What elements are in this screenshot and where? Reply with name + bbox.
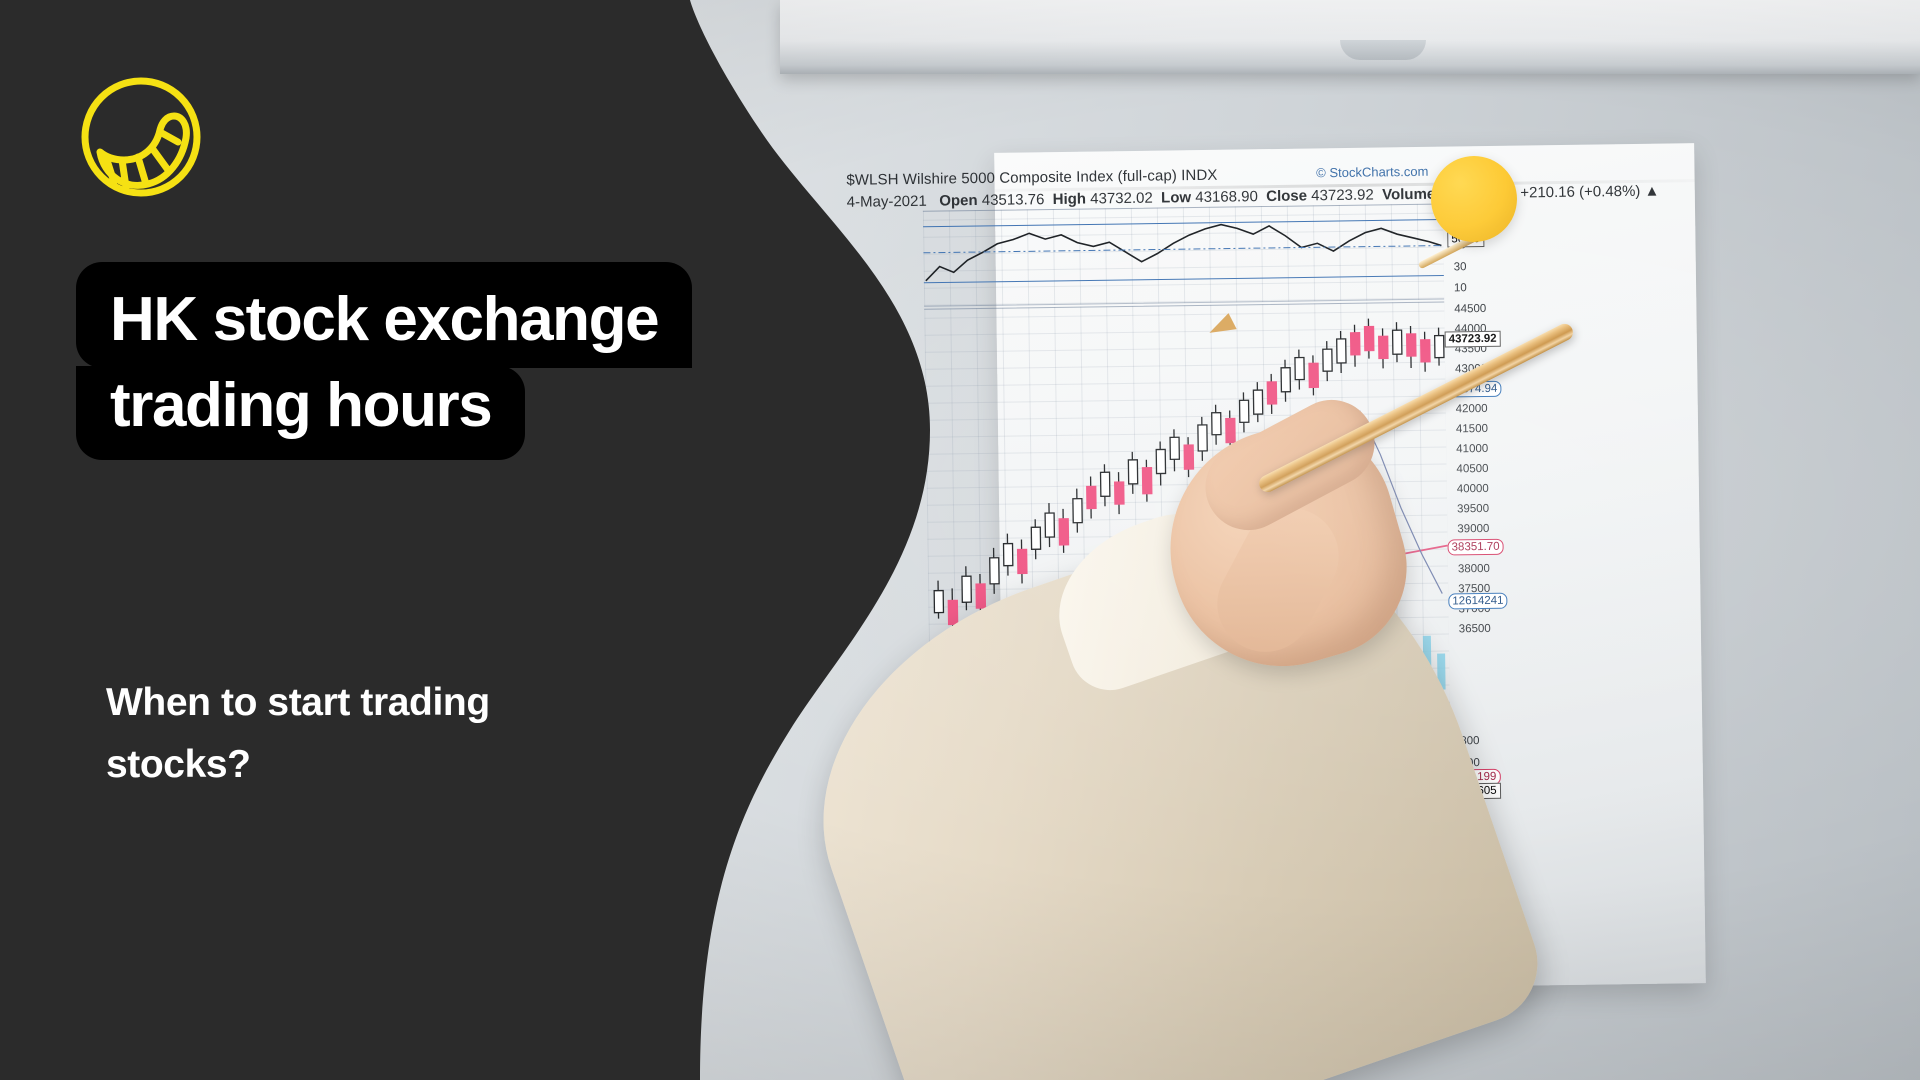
yellow-accent-dot xyxy=(1431,156,1517,242)
poster-canvas: $WLSH Wilshire 5000 Composite Index (ful… xyxy=(0,0,1920,1080)
headline-block: HK stock exchange trading hours xyxy=(76,262,896,460)
chg-up-arrow-icon: ▲ xyxy=(1644,183,1659,200)
headline-line-2: trading hours xyxy=(76,366,525,460)
banana-circle-logo-icon xyxy=(76,72,206,202)
subtitle-line-1: When to start trading xyxy=(106,672,746,734)
brand-logo[interactable] xyxy=(76,72,206,202)
subtitle-block: When to start trading stocks? xyxy=(106,672,746,795)
headline-line-1: HK stock exchange xyxy=(76,262,692,368)
subtitle-line-2: stocks? xyxy=(106,734,746,796)
